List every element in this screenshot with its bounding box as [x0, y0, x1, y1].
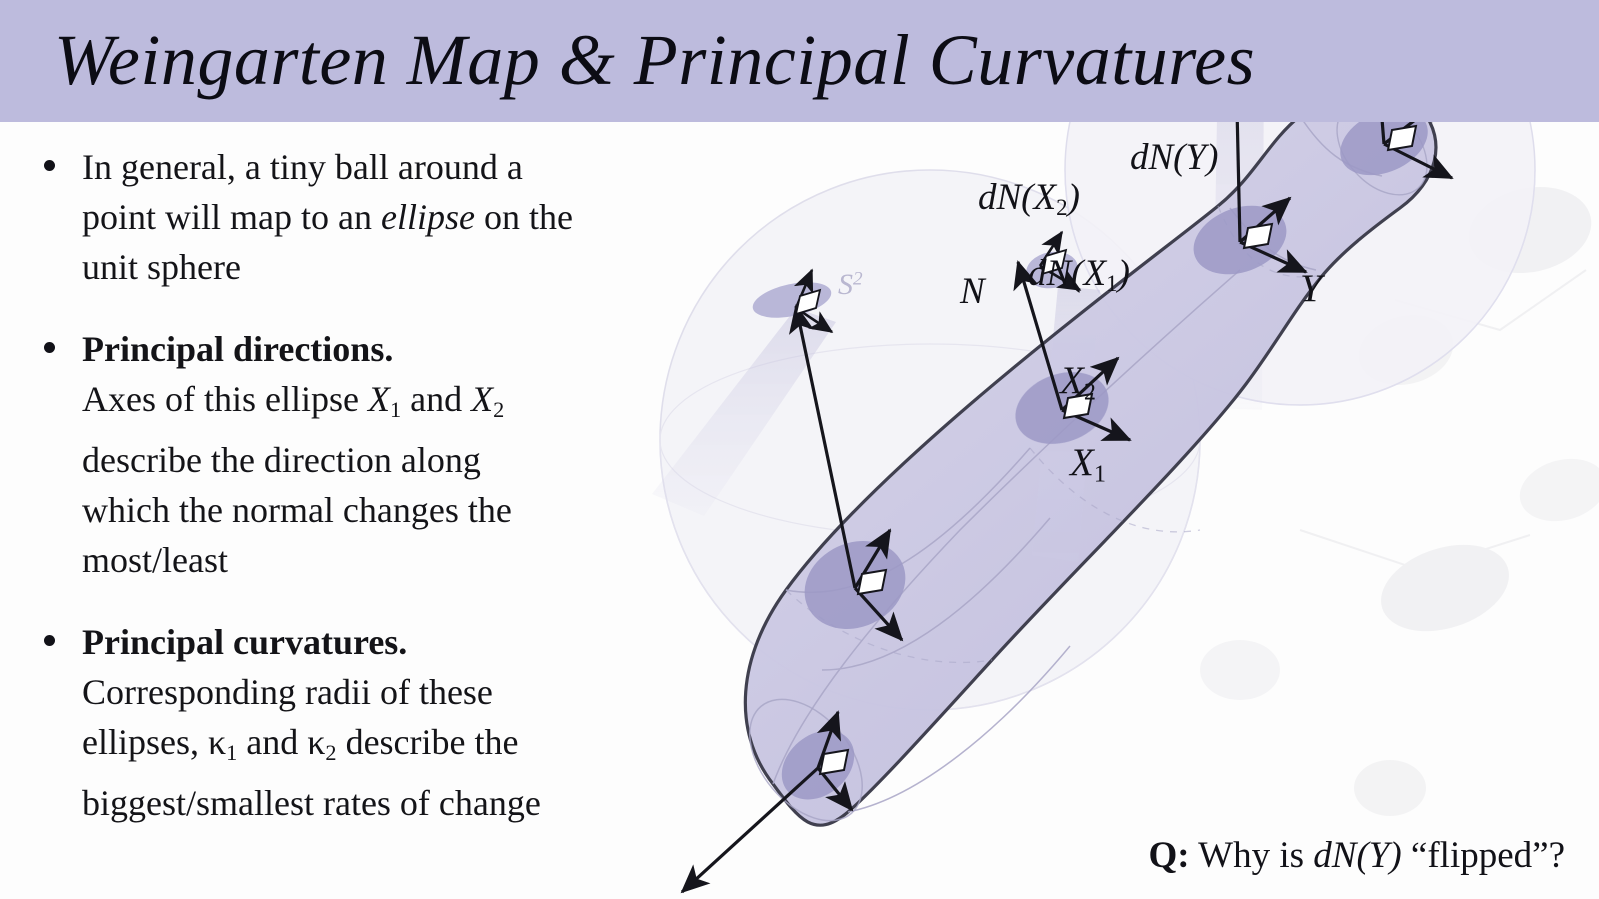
bullet-line: most/least [82, 535, 644, 585]
label-normal-N: N [960, 270, 985, 313]
label-X2: X2 [1060, 358, 1096, 406]
bullet-lead: Principal directions. [82, 324, 644, 374]
bullet-lead: Principal curvatures. [82, 617, 644, 667]
title-banner: Weingarten Map & Principal Curvatures [0, 0, 1599, 122]
bullet-line: point will map to an ellipse on the [82, 192, 644, 242]
label-dN-X1: dN(X1) [1028, 252, 1130, 297]
bullet-dot-icon [44, 342, 55, 353]
bullet-line: Corresponding radii of these [82, 667, 644, 717]
bullet-dot-icon [44, 635, 55, 646]
question-expression: dN(Y) [1313, 835, 1401, 876]
bullet-line: Axes of this ellipse X1 and X2 [82, 374, 644, 435]
bullet-line: biggest/smallest rates of change [82, 778, 644, 828]
question-prompt: Q: Why is dN(Y) “flipped”? [1148, 834, 1565, 877]
label-sphere-S2: S2 [838, 268, 863, 302]
label-X1: X1 [1070, 440, 1106, 488]
bullet-line: ellipses, κ1 and κ2 describe the [82, 717, 644, 778]
page-title: Weingarten Map & Principal Curvatures [54, 12, 1255, 108]
bullet-item-principal-curvatures: Principal curvatures. Corresponding radi… [34, 617, 644, 828]
bullet-line: describe the direction along [82, 435, 644, 485]
question-prefix: Q: [1148, 835, 1189, 876]
slide-root: S2 N dN(X2) dN(X1) dN(Y) X1 X2 Y Weingar… [0, 0, 1599, 899]
emphasis-ellipse: ellipse [381, 197, 475, 237]
label-dN-X2: dN(X2) [978, 176, 1080, 221]
bullet-line: unit sphere [82, 242, 644, 292]
bullet-list: In general, a tiny ball around a point w… [34, 142, 644, 860]
normal-vector-3 [682, 768, 818, 892]
bullet-line: In general, a tiny ball around a [82, 142, 644, 192]
weingarten-map-diagram: S2 N dN(X2) dN(X1) dN(Y) X1 X2 Y [600, 0, 1599, 899]
label-dN-Y: dN(Y) [1130, 136, 1218, 179]
bullet-item-general: In general, a tiny ball around a point w… [34, 142, 644, 292]
bullet-item-principal-directions: Principal directions. Axes of this ellip… [34, 324, 644, 585]
bullet-line: which the normal changes the [82, 485, 644, 535]
bullet-dot-icon [44, 160, 55, 171]
label-Y: Y [1300, 266, 1322, 311]
